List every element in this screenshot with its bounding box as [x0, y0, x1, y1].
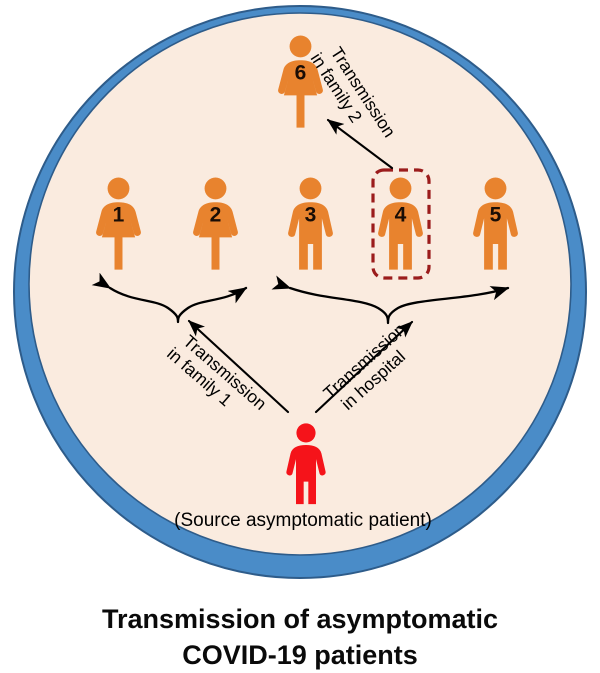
person-label-1: 1 — [113, 204, 125, 227]
person-label-3: 3 — [305, 204, 317, 227]
person-label-2: 2 — [210, 204, 222, 227]
person-label-4: 4 — [395, 204, 407, 227]
figure-title-line1: Transmission of asymptomatic — [102, 604, 498, 634]
source-patient-caption: (Source asymptomatic patient) — [174, 510, 432, 531]
person-label-5: 5 — [490, 204, 502, 227]
person-label-6: 6 — [295, 62, 307, 85]
figure-title-line2: COVID-19 patients — [182, 640, 418, 670]
figure-root: 6 1 2 3 4 5 — [0, 0, 600, 673]
transmission-diagram: 6 1 2 3 4 5 — [0, 0, 600, 673]
